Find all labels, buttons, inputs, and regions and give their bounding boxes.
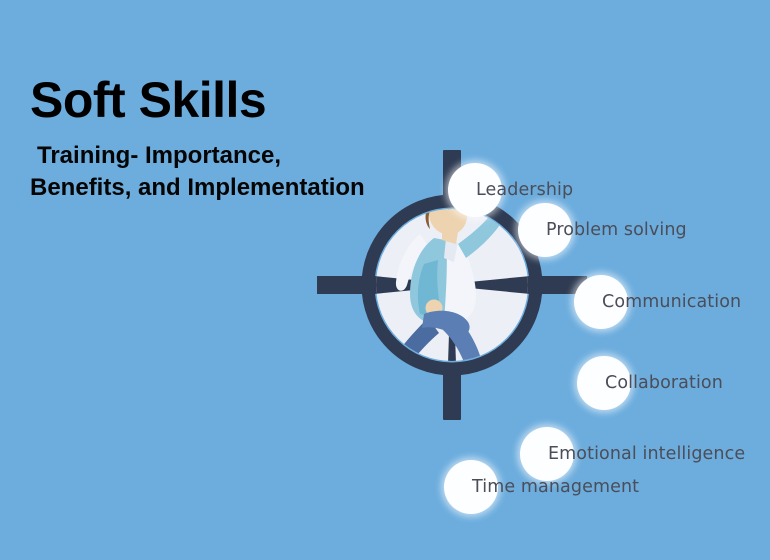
skill-item-time-management[interactable]: Time management bbox=[444, 460, 639, 514]
skill-item-problem-solving[interactable]: Problem solving bbox=[518, 203, 687, 257]
skill-label: Leadership bbox=[448, 180, 573, 200]
skill-label: Collaboration bbox=[577, 373, 723, 393]
skill-label: Emotional intelligence bbox=[520, 444, 745, 464]
skill-label: Communication bbox=[574, 292, 741, 312]
skill-item-collaboration[interactable]: Collaboration bbox=[577, 356, 723, 410]
skill-label: Problem solving bbox=[518, 220, 687, 240]
skill-item-communication[interactable]: Communication bbox=[574, 275, 741, 329]
skill-label: Time management bbox=[444, 477, 639, 497]
slide-canvas: Soft Skills Training- Importance, Benefi… bbox=[0, 0, 770, 560]
soft-skills-graphic: Leadership Problem solving Communication… bbox=[312, 86, 770, 506]
